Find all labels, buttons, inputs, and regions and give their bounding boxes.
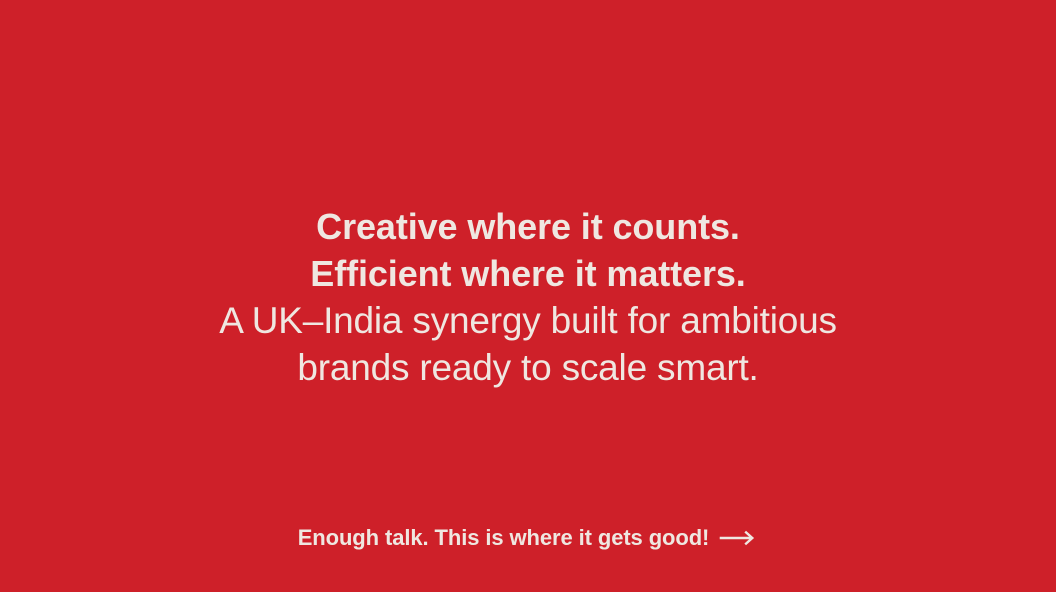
cta-link[interactable]: Enough talk. This is where it gets good! — [298, 521, 759, 555]
subheadline-line-1: A UK–India synergy built for ambitious — [148, 297, 908, 344]
hero-section: Creative where it counts. Efficient wher… — [0, 0, 1056, 592]
headline-line-2: Efficient where it matters. — [148, 250, 908, 297]
headline-block: Creative where it counts. Efficient wher… — [148, 203, 908, 391]
headline-line-1: Creative where it counts. — [148, 203, 908, 250]
cta-label: Enough talk. This is where it gets good! — [298, 521, 710, 555]
long-right-arrow-icon — [718, 529, 758, 547]
subheadline-line-2: brands ready to scale smart. — [148, 344, 908, 391]
